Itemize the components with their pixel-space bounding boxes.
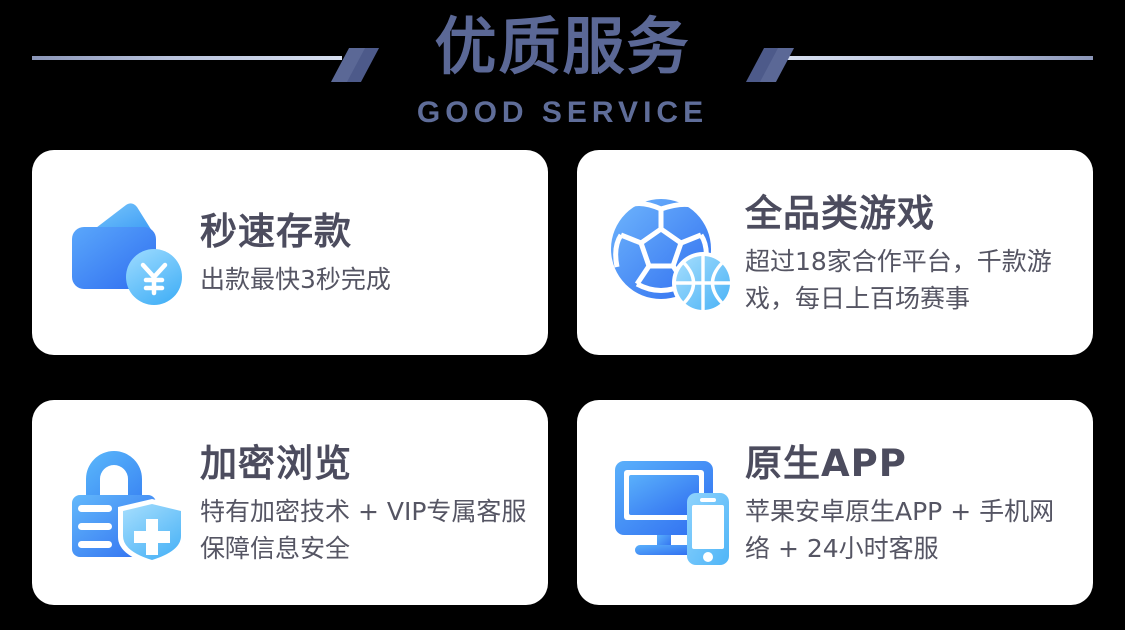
card-title: 加密浏览: [200, 441, 530, 487]
lock-shield-icon: [60, 437, 192, 569]
card-text-block: 秒速存款 出款最快3秒完成: [200, 207, 530, 298]
card-text-block: 全品类游戏 超过18家合作平台，千款游戏，每日上百场赛事: [745, 189, 1075, 317]
card-description: 出款最快3秒完成: [200, 261, 530, 298]
service-card-deposit[interactable]: 秒速存款 出款最快3秒完成: [32, 150, 548, 355]
service-card-games[interactable]: 全品类游戏 超过18家合作平台，千款游戏，每日上百场赛事: [577, 150, 1093, 355]
soccer-basketball-icon: [605, 187, 737, 319]
card-title: 全品类游戏: [745, 191, 1075, 237]
wallet-coin-icon: [60, 187, 192, 319]
page-header: 优质服务 GOOD SERVICE: [0, 0, 1125, 150]
card-description: 超过18家合作平台，千款游戏，每日上百场赛事: [745, 243, 1075, 317]
card-title: 原生APP: [745, 441, 1075, 487]
monitor-phone-icon: [605, 437, 737, 569]
card-text-block: 原生APP 苹果安卓原生APP + 手机网络 + 24小时客服: [745, 439, 1075, 567]
page-subtitle: GOOD SERVICE: [0, 96, 1125, 130]
card-description: 特有加密技术 + VIP专属客服保障信息安全: [200, 493, 530, 567]
card-title: 秒速存款: [200, 209, 530, 255]
service-card-encryption[interactable]: 加密浏览 特有加密技术 + VIP专属客服保障信息安全: [32, 400, 548, 605]
service-card-grid: 秒速存款 出款最快3秒完成: [32, 150, 1093, 600]
page-title: 优质服务: [0, 4, 1125, 90]
card-text-block: 加密浏览 特有加密技术 + VIP专属客服保障信息安全: [200, 439, 530, 567]
service-card-native-app[interactable]: 原生APP 苹果安卓原生APP + 手机网络 + 24小时客服: [577, 400, 1093, 605]
card-description: 苹果安卓原生APP + 手机网络 + 24小时客服: [745, 493, 1075, 567]
